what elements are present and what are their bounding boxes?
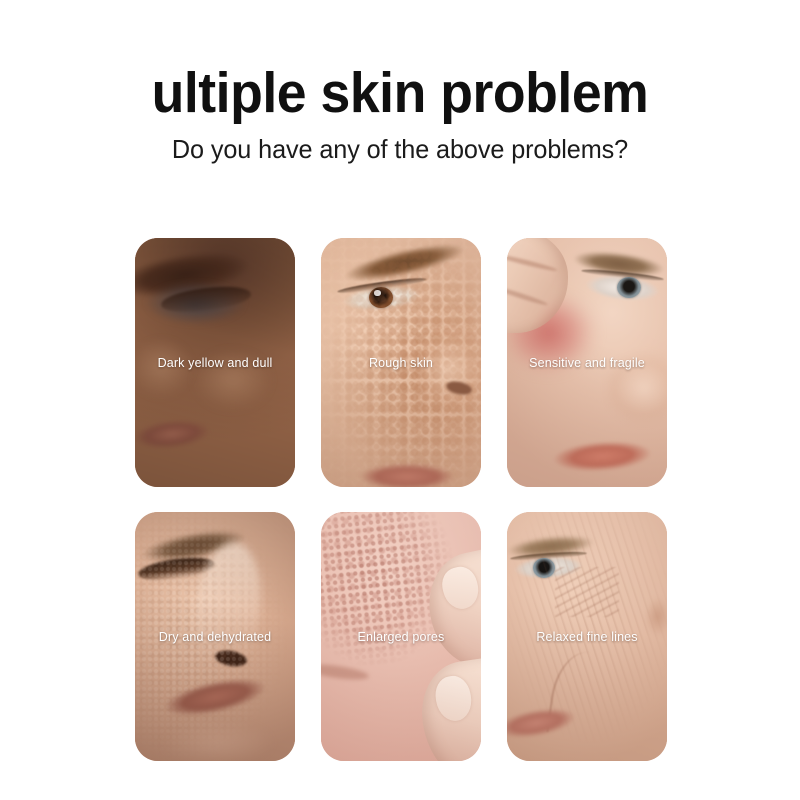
tile-caption: Sensitive and fragile	[507, 356, 667, 370]
page-subtitle: Do you have any of the above problems?	[12, 133, 788, 165]
tile-caption: Rough skin	[321, 356, 481, 370]
tile-sensitive-and-fragile[interactable]: Sensitive and fragile	[507, 238, 667, 487]
tile-caption: Enlarged pores	[321, 630, 481, 644]
tile-dry-and-dehydrated[interactable]: Dry and dehydrated	[135, 512, 295, 761]
tile-relaxed-fine-lines[interactable]: Relaxed fine lines	[507, 512, 667, 761]
tile-enlarged-pores[interactable]: Enlarged pores	[321, 512, 481, 761]
tile-rough-skin[interactable]: Rough skin	[321, 238, 481, 487]
skin-problem-grid: Dark yellow and dull Rough skin	[135, 238, 667, 761]
page-title: ultiple skin problem	[24, 62, 776, 124]
tile-caption: Dark yellow and dull	[135, 356, 295, 370]
tile-caption: Dry and dehydrated	[135, 630, 295, 644]
poster-header: ultiple skin problem Do you have any of …	[0, 62, 800, 165]
skin-problem-poster: ultiple skin problem Do you have any of …	[0, 0, 800, 800]
tile-dark-yellow-and-dull[interactable]: Dark yellow and dull	[135, 238, 295, 487]
tile-caption: Relaxed fine lines	[507, 630, 667, 644]
